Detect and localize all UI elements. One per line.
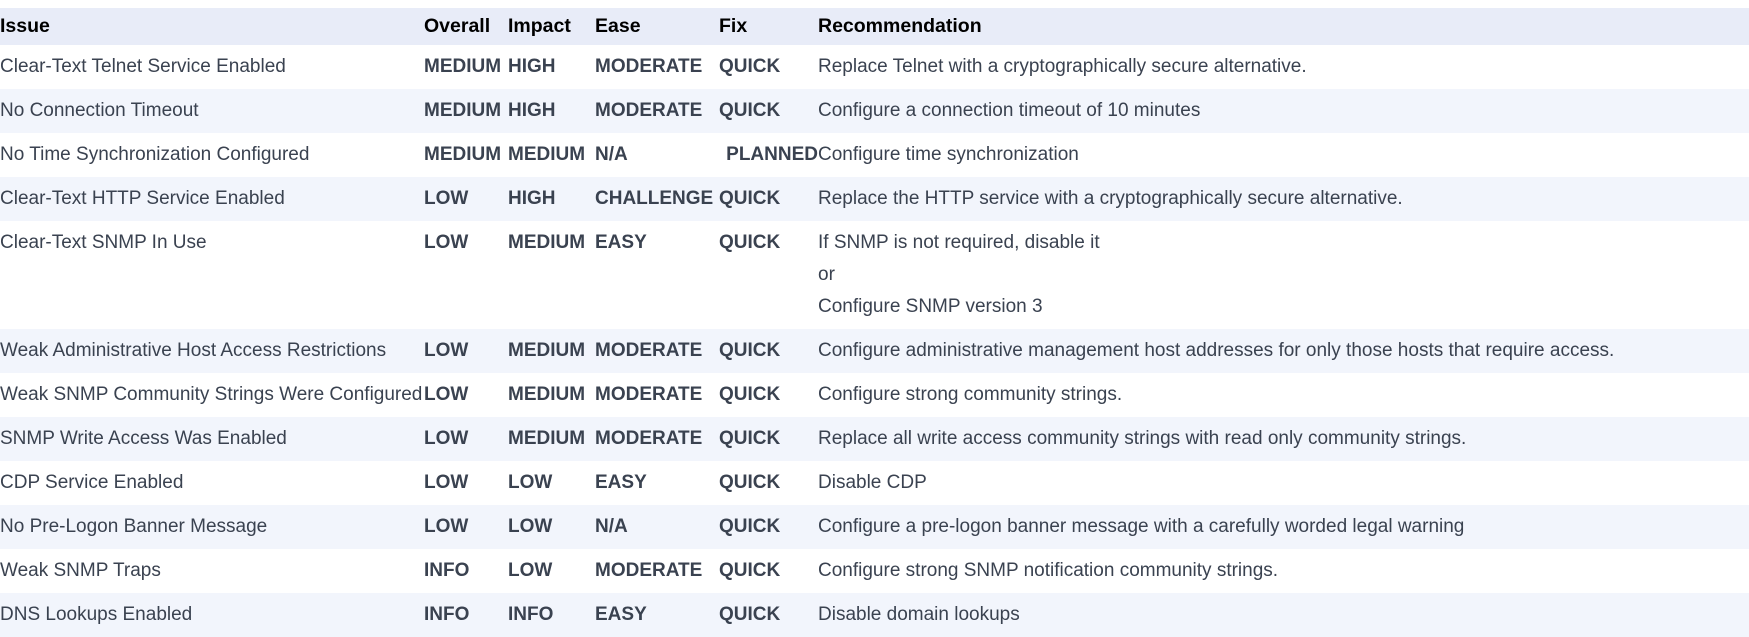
column-header-recommendation[interactable]: Recommendation — [818, 8, 1749, 45]
cell-fix: QUICK — [719, 417, 818, 461]
cell-issue: Clear-Text SNMP In Use — [0, 221, 424, 329]
cell-fix: QUICK — [719, 549, 818, 593]
table-body: Clear-Text Telnet Service EnabledMEDIUMH… — [0, 45, 1749, 637]
cell-issue: Clear-Text HTTP Service Enabled — [0, 177, 424, 221]
cell-overall: MEDIUM — [424, 89, 508, 133]
findings-table: Issue Overall Impact Ease Fix Recommenda… — [0, 8, 1749, 637]
cell-fix: QUICK — [719, 221, 818, 329]
cell-ease: MODERATE — [595, 417, 719, 461]
cell-impact: MEDIUM — [508, 133, 595, 177]
cell-fix: PLANNED — [719, 133, 818, 177]
cell-fix: QUICK — [719, 329, 818, 373]
cell-fix: QUICK — [719, 505, 818, 549]
cell-impact: HIGH — [508, 45, 595, 89]
cell-issue: No Connection Timeout — [0, 89, 424, 133]
cell-fix: QUICK — [719, 593, 818, 637]
cell-ease: EASY — [595, 461, 719, 505]
cell-impact: MEDIUM — [508, 221, 595, 329]
cell-overall: INFO — [424, 549, 508, 593]
cell-issue: SNMP Write Access Was Enabled — [0, 417, 424, 461]
cell-ease: CHALLENGE — [595, 177, 719, 221]
table-row[interactable]: CDP Service EnabledLOWLOWEASYQUICKDisabl… — [0, 461, 1749, 505]
cell-fix: QUICK — [719, 177, 818, 221]
cell-fix: QUICK — [719, 373, 818, 417]
cell-issue: Clear-Text Telnet Service Enabled — [0, 45, 424, 89]
cell-recommendation: Configure strong SNMP notification commu… — [818, 549, 1749, 593]
table-row[interactable]: No Time Synchronization ConfiguredMEDIUM… — [0, 133, 1749, 177]
cell-issue: Weak SNMP Community Strings Were Configu… — [0, 373, 424, 417]
cell-overall: LOW — [424, 177, 508, 221]
cell-impact: MEDIUM — [508, 417, 595, 461]
cell-ease: N/A — [595, 133, 719, 177]
cell-recommendation: Disable CDP — [818, 461, 1749, 505]
cell-fix: QUICK — [719, 461, 818, 505]
cell-ease: MODERATE — [595, 45, 719, 89]
cell-ease: EASY — [595, 593, 719, 637]
cell-impact: INFO — [508, 593, 595, 637]
cell-ease: MODERATE — [595, 329, 719, 373]
cell-overall: INFO — [424, 593, 508, 637]
cell-impact: MEDIUM — [508, 373, 595, 417]
cell-recommendation: Replace the HTTP service with a cryptogr… — [818, 177, 1749, 221]
cell-impact: HIGH — [508, 89, 595, 133]
cell-overall: LOW — [424, 373, 508, 417]
table-row[interactable]: DNS Lookups EnabledINFOINFOEASYQUICKDisa… — [0, 593, 1749, 637]
cell-recommendation: Configure a connection timeout of 10 min… — [818, 89, 1749, 133]
cell-issue: No Time Synchronization Configured — [0, 133, 424, 177]
table-row[interactable]: No Connection TimeoutMEDIUMHIGHMODERATEQ… — [0, 89, 1749, 133]
cell-recommendation: Configure a pre-logon banner message wit… — [818, 505, 1749, 549]
cell-fix: QUICK — [719, 89, 818, 133]
cell-issue: No Pre-Logon Banner Message — [0, 505, 424, 549]
cell-ease: EASY — [595, 221, 719, 329]
cell-ease: MODERATE — [595, 549, 719, 593]
cell-overall: LOW — [424, 461, 508, 505]
table-row[interactable]: Weak SNMP Community Strings Were Configu… — [0, 373, 1749, 417]
cell-impact: LOW — [508, 461, 595, 505]
table-row[interactable]: Weak Administrative Host Access Restrict… — [0, 329, 1749, 373]
cell-impact: LOW — [508, 549, 595, 593]
cell-recommendation: Configure administrative management host… — [818, 329, 1749, 373]
cell-overall: LOW — [424, 329, 508, 373]
cell-overall: LOW — [424, 221, 508, 329]
cell-ease: MODERATE — [595, 373, 719, 417]
cell-impact: HIGH — [508, 177, 595, 221]
cell-fix: QUICK — [719, 45, 818, 89]
cell-ease: N/A — [595, 505, 719, 549]
column-header-impact[interactable]: Impact — [508, 8, 595, 45]
cell-impact: MEDIUM — [508, 329, 595, 373]
cell-recommendation: Disable domain lookups — [818, 593, 1749, 637]
cell-issue: DNS Lookups Enabled — [0, 593, 424, 637]
column-header-ease[interactable]: Ease — [595, 8, 719, 45]
cell-ease: MODERATE — [595, 89, 719, 133]
cell-recommendation: Replace Telnet with a cryptographically … — [818, 45, 1749, 89]
table-header: Issue Overall Impact Ease Fix Recommenda… — [0, 8, 1749, 45]
cell-recommendation: Replace all write access community strin… — [818, 417, 1749, 461]
cell-recommendation: Configure strong community strings. — [818, 373, 1749, 417]
cell-overall: MEDIUM — [424, 45, 508, 89]
cell-issue: Weak SNMP Traps — [0, 549, 424, 593]
table-header-row: Issue Overall Impact Ease Fix Recommenda… — [0, 8, 1749, 45]
column-header-fix[interactable]: Fix — [719, 8, 818, 45]
table-row[interactable]: Clear-Text HTTP Service EnabledLOWHIGHCH… — [0, 177, 1749, 221]
column-header-overall[interactable]: Overall — [424, 8, 508, 45]
cell-issue: Weak Administrative Host Access Restrict… — [0, 329, 424, 373]
column-header-issue[interactable]: Issue — [0, 8, 424, 45]
cell-issue: CDP Service Enabled — [0, 461, 424, 505]
table-row[interactable]: Clear-Text Telnet Service EnabledMEDIUMH… — [0, 45, 1749, 89]
cell-overall: LOW — [424, 505, 508, 549]
cell-recommendation: If SNMP is not required, disable it or C… — [818, 221, 1749, 329]
cell-overall: MEDIUM — [424, 133, 508, 177]
table-row[interactable]: Weak SNMP TrapsINFOLOWMODERATEQUICKConfi… — [0, 549, 1749, 593]
cell-impact: LOW — [508, 505, 595, 549]
table-row[interactable]: Clear-Text SNMP In UseLOWMEDIUMEASYQUICK… — [0, 221, 1749, 329]
cell-recommendation: Configure time synchronization — [818, 133, 1749, 177]
table-row[interactable]: No Pre-Logon Banner MessageLOWLOWN/AQUIC… — [0, 505, 1749, 549]
table-row[interactable]: SNMP Write Access Was EnabledLOWMEDIUMMO… — [0, 417, 1749, 461]
cell-overall: LOW — [424, 417, 508, 461]
